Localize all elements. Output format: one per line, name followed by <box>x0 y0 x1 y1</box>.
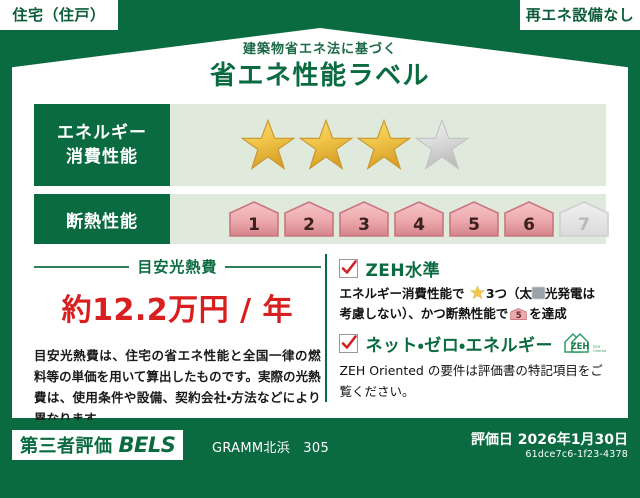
house-level-7-number: 7 <box>558 215 610 235</box>
header-title: 省エネ性能ラベル <box>0 60 640 92</box>
zeh-netzero-body: ZEH Oriented の要件は評価書の特記項目をご覧ください。 <box>339 360 606 402</box>
house-level-6-number: 6 <box>503 215 555 235</box>
cost-rule-left <box>34 266 129 268</box>
header-title-group: 建築物省エネ法に基づく 省エネ性能ラベル <box>0 42 640 92</box>
label-body-panel: エネルギー 消費性能 <box>12 92 628 418</box>
zeh-netzero-title: ネット・ゼロ・エネルギー <box>365 331 553 356</box>
star-icon-filled-2 <box>298 117 354 173</box>
cost-value: 約12.2万円 / 年 <box>34 285 321 329</box>
bels-logo-text: BELS <box>119 433 176 457</box>
star-icon-filled-1 <box>240 117 296 173</box>
insulation-performance-label: 断熱性能 <box>66 207 138 232</box>
check-icon <box>341 335 357 351</box>
inline-star-icon <box>470 285 485 300</box>
label-footer: 第三者評価 BELS GRAMM北浜 305 評価日 2026年1月30日 61… <box>0 420 640 478</box>
star-rating <box>240 117 470 173</box>
house-level-1: 1 <box>228 200 280 238</box>
zeh-standard-body-part1: エネルギー消費性能で <box>339 286 464 301</box>
header-subtitle: 建築物省エネ法に基づく <box>0 42 640 58</box>
house-level-7: 7 <box>558 200 610 238</box>
row-energy-performance: エネルギー 消費性能 <box>34 104 606 186</box>
third-party-eval-label: 第三者評価 <box>20 432 113 458</box>
zeh-standard-checkbox[interactable] <box>339 259 358 278</box>
zeh-oriented-logo-icon: ZEH ZEH Oriented <box>562 330 606 356</box>
redacted-character <box>532 287 545 299</box>
energy-performance-label: 住宅（住戸） 再エネ設備なし 建築物省エネ法に基づく 省エネ性能ラベル エネルギ… <box>0 0 640 478</box>
energy-performance-label-line2: 消費性能 <box>66 145 138 169</box>
zeh-standard-body: エネルギー消費性能で 3つ（太光発電は考慮しない）、かつ断熱性能で5を達成 <box>339 284 606 324</box>
zeh-standard-body-part4: を達成 <box>529 306 567 321</box>
energy-performance-label-line1: エネルギー <box>57 121 147 145</box>
energy-performance-label-box: エネルギー 消費性能 <box>34 104 170 186</box>
house-level-1-number: 1 <box>228 215 280 235</box>
house-level-2: 2 <box>283 200 335 238</box>
insulation-performance-label-box: 断熱性能 <box>34 194 170 244</box>
cost-note: 目安光熱費は、住宅の省エネ性能と全国一律の燃料等の単価を用いて算出したものです。… <box>34 345 321 429</box>
house-level-4-number: 4 <box>393 215 445 235</box>
star-icon-filled-3 <box>356 117 412 173</box>
badge-building-type: 住宅（住戸） <box>0 0 118 30</box>
house-level-6: 6 <box>503 200 555 238</box>
badge-renewable-equipment: 再エネ設備なし <box>520 0 640 30</box>
evaluation-id: 61dce7c6-1f23-4378 <box>525 449 628 460</box>
cost-rule-right <box>225 266 320 268</box>
zeh-standard-title: ZEH水準 <box>365 256 440 281</box>
house-level-3-number: 3 <box>338 215 390 235</box>
svg-text:ZEH: ZEH <box>593 345 601 349</box>
svg-text:ZEH: ZEH <box>570 342 589 352</box>
energy-performance-value-box <box>170 104 606 186</box>
insulation-level-scale: 1 2 3 <box>228 200 610 238</box>
house-level-3: 3 <box>338 200 390 238</box>
vertical-divider <box>325 254 328 402</box>
zeh-standard-head: ZEH水準 <box>339 256 606 281</box>
zeh-netzero-checkbox[interactable] <box>339 334 358 353</box>
evaluation-date: 評価日 2026年1月30日 <box>471 429 628 449</box>
inline-house-badge: 5 <box>510 307 527 321</box>
zeh-netzero-block: ネット・ゼロ・エネルギー ZEH ZEH Oriented ZEH Orient… <box>339 330 606 402</box>
house-level-5-number: 5 <box>448 215 500 235</box>
property-name: GRAMM北浜 305 <box>212 437 329 456</box>
star-icon-empty-4 <box>414 117 470 173</box>
house-level-4: 4 <box>393 200 445 238</box>
zeh-standard-block: ZEH水準 エネルギー消費性能で 3つ（太光発電は考慮しない）、かつ断熱性能で5… <box>339 256 606 324</box>
inline-house-badge-number: 5 <box>510 311 527 321</box>
house-level-2-number: 2 <box>283 215 335 235</box>
check-icon <box>341 260 357 276</box>
svg-text:Oriented: Oriented <box>593 349 606 353</box>
cost-heading-row: 目安光熱費 <box>34 256 321 277</box>
bels-certification-box: 第三者評価 BELS <box>12 430 183 460</box>
insulation-performance-value-box: 1 2 3 <box>170 194 606 244</box>
row-insulation-performance: 断熱性能 1 <box>34 194 606 244</box>
cost-heading: 目安光熱費 <box>137 256 217 277</box>
zeh-netzero-head: ネット・ゼロ・エネルギー ZEH ZEH Oriented <box>339 330 606 356</box>
zeh-standard-body-part2: 3つ（太 <box>486 286 532 301</box>
house-level-5: 5 <box>448 200 500 238</box>
